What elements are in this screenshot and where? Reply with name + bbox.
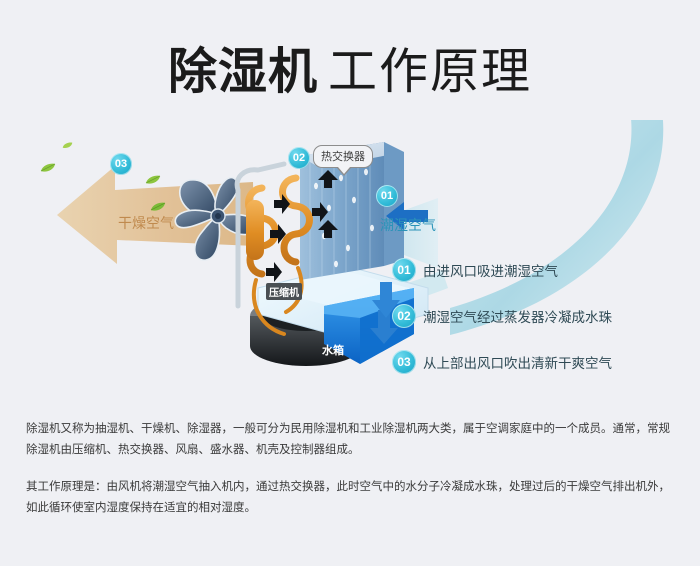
- legend-item: 01 由进风口吸进潮湿空气: [392, 258, 692, 282]
- legend-badge-03: 03: [392, 350, 416, 374]
- humid-air-label: 潮湿空气: [380, 215, 436, 235]
- badge-03-diagram: 03: [110, 153, 132, 175]
- legend-item: 02 潮湿空气经过蒸发器冷凝成水珠: [392, 304, 692, 328]
- leaf-icon: [40, 163, 56, 173]
- legend-badge-03-text: 03: [397, 355, 410, 369]
- leaf-icon: [145, 175, 161, 185]
- legend-text-03: 从上部出风口吹出清新干爽空气: [423, 352, 612, 372]
- legend-badge-01: 01: [392, 258, 416, 282]
- page-title: 除湿机工作原理: [0, 32, 700, 103]
- legend-badge-02: 02: [392, 304, 416, 328]
- badge-01-text: 01: [381, 190, 393, 202]
- infographic-page: 除湿机工作原理: [0, 0, 700, 566]
- title-light-part: 工作原理: [328, 43, 532, 100]
- legend-badge-02-text: 02: [397, 309, 410, 323]
- legend-item: 03 从上部出风口吹出清新干爽空气: [392, 350, 692, 374]
- badge-02-text: 02: [293, 152, 305, 164]
- dry-air-label: 干燥空气: [118, 213, 174, 233]
- description-block: 除湿机又称为抽湿机、干燥机、除湿器，一般可分为民用除湿机和工业除湿机两大类，属于…: [26, 418, 676, 534]
- badge-02-diagram: 02: [288, 147, 310, 169]
- legend-text-02: 潮湿空气经过蒸发器冷凝成水珠: [423, 306, 612, 326]
- legend-text-01: 由进风口吸进潮湿空气: [423, 260, 558, 280]
- legend-badge-01-text: 01: [397, 263, 410, 277]
- heat-exchanger-callout: 热交换器: [313, 145, 373, 168]
- compressor-label: 压缩机: [266, 283, 302, 300]
- legend-list: 01 由进风口吸进潮湿空气 02 潮湿空气经过蒸发器冷凝成水珠 03 从上部出风…: [392, 258, 692, 396]
- description-paragraph-2: 其工作原理是：由风机将潮湿空气抽入机内，通过热交换器，此时空气中的水分子冷凝成水…: [26, 476, 676, 518]
- description-paragraph-1: 除湿机又称为抽湿机、干燥机、除湿器，一般可分为民用除湿机和工业除湿机两大类，属于…: [26, 418, 676, 460]
- badge-01-diagram: 01: [376, 185, 398, 207]
- water-tank-label: 水箱: [322, 342, 344, 358]
- title-bold-part: 除湿机: [168, 43, 318, 100]
- leaf-icon: [150, 202, 166, 212]
- badge-03-text: 03: [115, 158, 127, 170]
- leaf-icon: [62, 142, 73, 149]
- heat-exchanger-label: 热交换器: [321, 150, 365, 163]
